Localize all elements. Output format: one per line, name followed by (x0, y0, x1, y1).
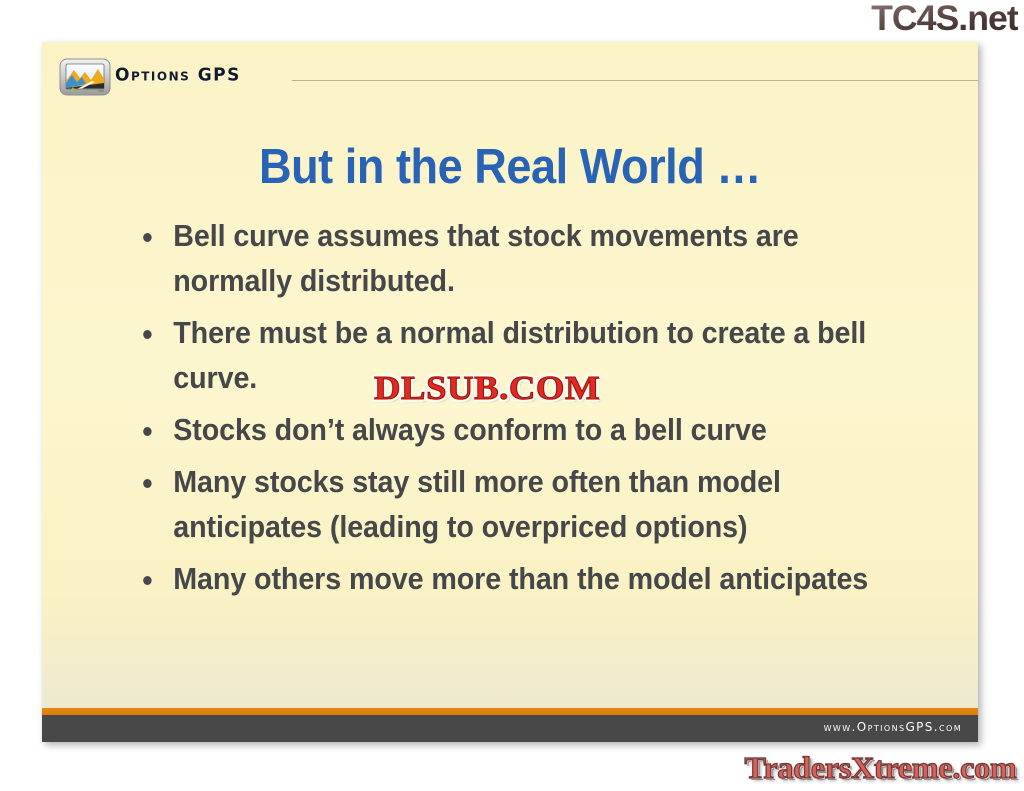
footer-url: www.OptionsGPS.com (824, 720, 962, 734)
tc4s-watermark: TC4S.net (871, 0, 1018, 38)
tradersxtreme-watermark: TradersXtreme.com (744, 751, 1016, 785)
slide-header: Options GPS (42, 42, 978, 100)
brand-name: Options GPS (115, 65, 241, 86)
header-divider (292, 80, 978, 81)
list-item: Many stocks stay still more often than m… (99, 460, 909, 550)
list-item: Stocks don’t always conform to a bell cu… (99, 408, 909, 453)
bullet-list: Bell curve assumes that stock movements … (99, 214, 961, 609)
gps-device-icon (58, 57, 112, 99)
footer-accent-bar (42, 708, 978, 715)
list-item: Bell curve assumes that stock movements … (99, 214, 909, 304)
slide-footer: www.OptionsGPS.com (42, 715, 978, 742)
dlsub-watermark: DLSUB.COM (374, 372, 600, 406)
page-title: But in the Real World … (79, 139, 940, 195)
presentation-slide: Options GPS But in the Real World … Bell… (42, 42, 978, 742)
list-item: Many others move more than the model ant… (99, 557, 909, 602)
